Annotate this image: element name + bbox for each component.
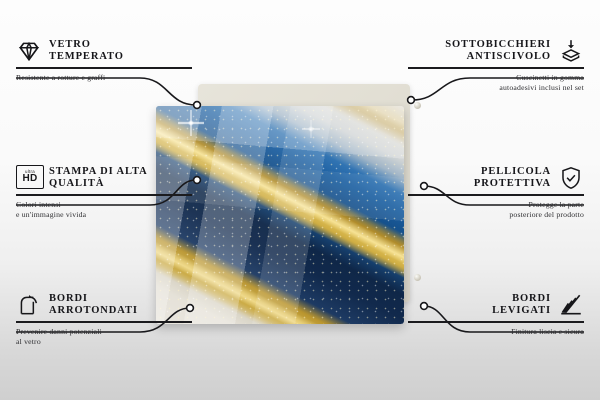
- divider: [408, 67, 584, 69]
- hatch-lines-icon: [558, 292, 584, 318]
- divider: [16, 321, 192, 323]
- feature-title-line1: VETRO: [49, 39, 124, 52]
- glass-reflection: [156, 106, 404, 324]
- divider: [408, 321, 584, 323]
- feature-sottobicchieri-antiscivolo: SOTTOBICCHIERI ANTISCIVOLO Cuscinetti in…: [408, 38, 584, 93]
- feature-title-line1: BORDI: [49, 293, 138, 306]
- feature-title-line2: TEMPERATO: [49, 51, 124, 64]
- feature-title-line2: LEVIGATI: [492, 305, 551, 318]
- glass-board: [156, 106, 404, 324]
- feature-title-line2: ANTISCIVOLO: [445, 51, 551, 64]
- feature-stampa-di-alta-qualita: ultra HD STAMPA DI ALTA QUALITÀ Colori i…: [16, 165, 192, 220]
- feature-subtitle-line1: Protegge la parte: [408, 200, 584, 210]
- rubber-foot: [414, 102, 421, 109]
- feature-bordi-arrotondati: BORDI ARROTONDATI Prevenire danni potenz…: [16, 292, 192, 347]
- product-image: [156, 84, 418, 324]
- feature-subtitle-line1: Resistente a rotture e graffi: [16, 73, 192, 83]
- badge-large-label: HD: [22, 174, 37, 184]
- feature-title-line1: STAMPA DI ALTA: [49, 166, 148, 179]
- diamond-icon: [16, 38, 42, 64]
- feature-subtitle-line2: autoadesivi inclusi nel set: [408, 83, 584, 93]
- feature-bordi-levigati: BORDI LEVIGATI Finitura liscia e sicura: [408, 292, 584, 337]
- feature-vetro-temperato: VETRO TEMPERATO Resistente a rotture e g…: [16, 38, 192, 83]
- feature-title-line1: BORDI: [492, 293, 551, 306]
- press-pad-icon: [558, 38, 584, 64]
- feature-subtitle-line1: Prevenire danni potenziali: [16, 327, 192, 337]
- divider: [16, 194, 192, 196]
- ultra-hd-badge-icon: ultra HD: [16, 165, 42, 191]
- shield-check-icon: [558, 165, 584, 191]
- feature-title-line2: PROTETTIVA: [474, 178, 551, 191]
- feature-subtitle-line2: al vetro: [16, 337, 192, 347]
- feature-title-line2: QUALITÀ: [49, 178, 148, 191]
- sparkle-icon: [178, 110, 204, 136]
- feature-title-line1: PELLICOLA: [474, 166, 551, 179]
- rounded-corner-icon: [16, 292, 42, 318]
- feature-subtitle-line2: e un'immagine vivida: [16, 210, 192, 220]
- infographic-stage: VETRO TEMPERATO Resistente a rotture e g…: [0, 0, 600, 400]
- feature-subtitle-line2: posteriore del prodotto: [408, 210, 584, 220]
- sparkle-icon: [302, 120, 320, 138]
- feature-subtitle-line1: Colori intensi: [16, 200, 192, 210]
- feature-subtitle-line1: Finitura liscia e sicura: [408, 327, 584, 337]
- feature-pellicola-protettiva: PELLICOLA PROTETTIVA Protegge la parte p…: [408, 165, 584, 220]
- feature-title-line2: ARROTONDATI: [49, 305, 138, 318]
- divider: [16, 67, 192, 69]
- feature-title-line1: SOTTOBICCHIERI: [445, 39, 551, 52]
- rubber-foot: [414, 274, 421, 281]
- divider: [408, 194, 584, 196]
- feature-subtitle-line1: Cuscinetti in gomma: [408, 73, 584, 83]
